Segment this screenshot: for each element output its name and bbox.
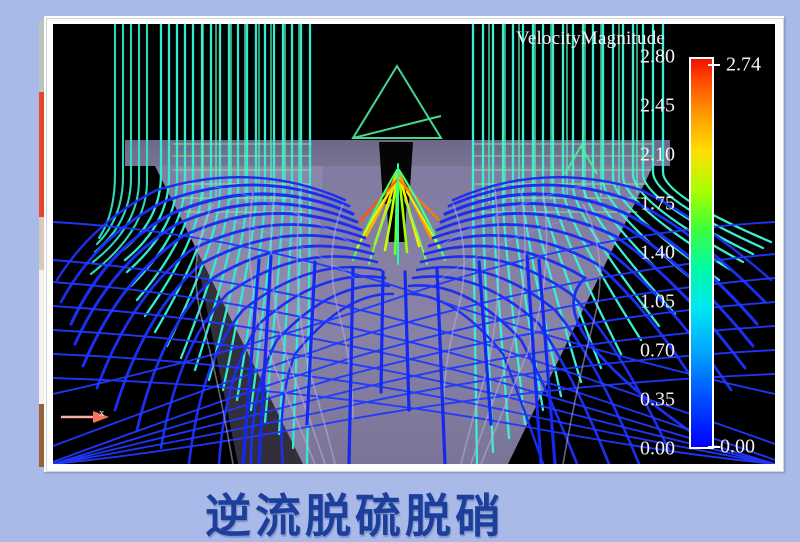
streamline-plot	[53, 24, 775, 464]
axis-label-x: x	[99, 407, 105, 419]
orientation-axis-widget: x	[59, 406, 113, 428]
slide-canvas: VelocityMagnitude 2.802.452.101.751.401.…	[0, 0, 800, 542]
slide-caption: 逆流脱硫脱硝	[0, 480, 710, 542]
cfd-render-viewport[interactable]: VelocityMagnitude 2.802.452.101.751.401.…	[53, 24, 775, 464]
cfd-scene	[53, 24, 775, 464]
